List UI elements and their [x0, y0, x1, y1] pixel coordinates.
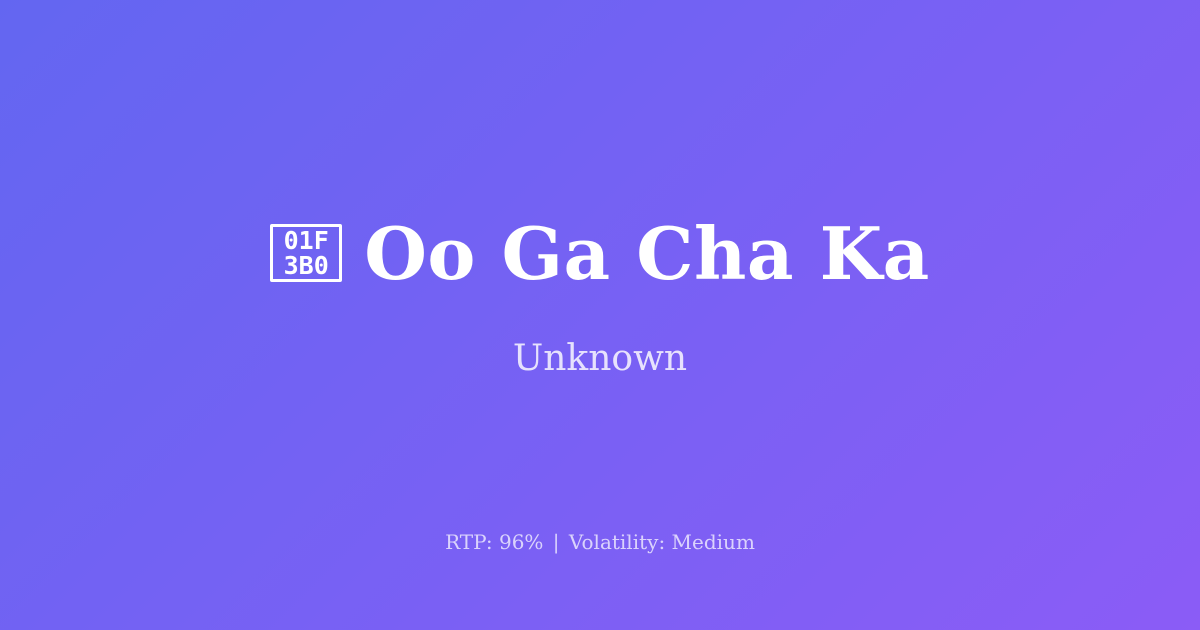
- tofu-codepoint-top: 01F: [284, 228, 329, 253]
- slot-machine-icon: 01F 3B0: [270, 224, 342, 282]
- og-share-card: 01F 3B0 Oo Ga Cha Ka Unknown RTP: 96% | …: [0, 0, 1200, 630]
- rtp-value: 96%: [499, 530, 543, 554]
- rtp-label: RTP:: [445, 530, 493, 554]
- volatility-label: Volatility:: [569, 530, 665, 554]
- stats-separator: |: [550, 530, 563, 554]
- page-title: Oo Ga Cha Ka: [364, 216, 930, 292]
- game-stats-line: RTP: 96% | Volatility: Medium: [0, 530, 1200, 554]
- provider-subtitle: Unknown: [513, 337, 687, 380]
- volatility-value: Medium: [672, 530, 755, 554]
- title-row: 01F 3B0 Oo Ga Cha Ka: [0, 216, 1200, 292]
- tofu-codepoint-bottom: 3B0: [284, 253, 329, 278]
